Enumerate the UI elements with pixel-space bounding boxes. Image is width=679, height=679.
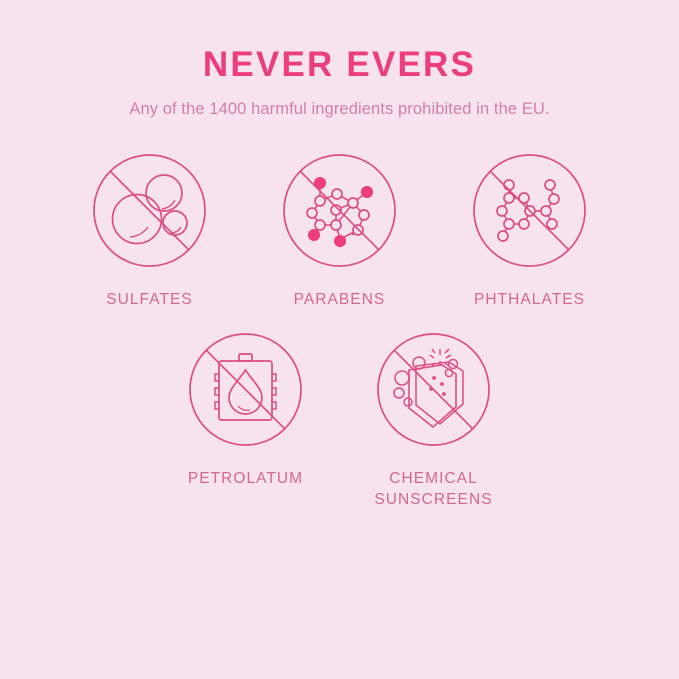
no-parabens-molecule-filled-icon <box>282 153 397 268</box>
icon-item-phthalates: PHTHALATES <box>472 153 587 310</box>
page-title: NEVER EVERS <box>0 44 679 86</box>
icon-label: PETROLATUM <box>188 468 303 489</box>
never-evers-infographic: NEVER EVERS Any of the 1400 harmful ingr… <box>0 0 679 679</box>
icon-item-parabens: PARABENS <box>282 153 397 310</box>
icon-item-petrolatum: PETROLATUM <box>188 332 303 489</box>
icon-item-sulfates: SULFATES <box>92 153 207 310</box>
icon-row-2: PETROLATUM <box>0 332 679 510</box>
header: NEVER EVERS Any of the 1400 harmful ingr… <box>0 0 679 119</box>
icon-label: PHTHALATES <box>474 289 585 310</box>
icon-item-chemical-sunscreens: CHEMICAL SUNSCREENS <box>376 332 491 510</box>
no-phthalates-molecule-icon <box>472 153 587 268</box>
no-chemical-sunscreens-shield-icon <box>376 332 491 447</box>
no-petrolatum-barrel-icon <box>188 332 303 447</box>
no-sulfates-bubbles-icon <box>92 153 207 268</box>
icon-row-1: SULFATES <box>0 153 679 310</box>
icon-label: SULFATES <box>106 289 193 310</box>
icon-grid: SULFATES <box>0 153 679 510</box>
page-subtitle: Any of the 1400 harmful ingredients proh… <box>0 99 679 119</box>
icon-label: PARABENS <box>294 289 386 310</box>
icon-label: CHEMICAL SUNSCREENS <box>374 468 492 510</box>
